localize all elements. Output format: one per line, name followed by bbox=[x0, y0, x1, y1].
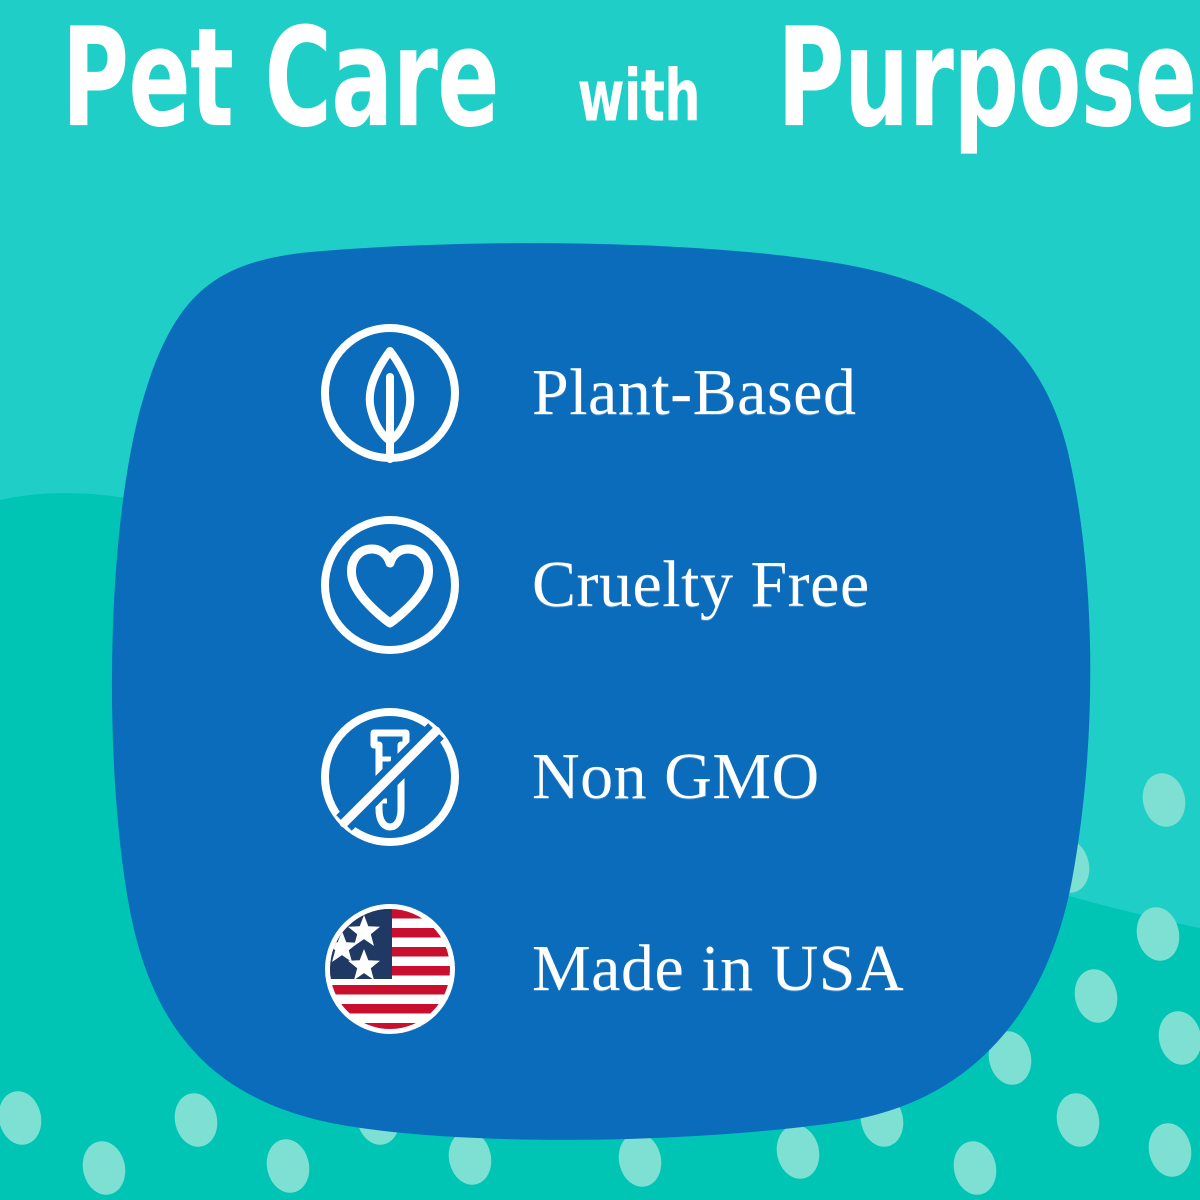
badge-label-non-gmo: Non GMO bbox=[532, 744, 820, 810]
promo-graphic: Pet CarewithPurpose® Plant-Based bbox=[0, 0, 1200, 1200]
headline-part-1: Pet Care bbox=[62, 9, 499, 146]
badge-label-plant-based: Plant-Based bbox=[532, 360, 856, 426]
headline-part-3: Purpose bbox=[777, 9, 1196, 146]
page-title: Pet CarewithPurpose® bbox=[0, 28, 1200, 146]
badge-label-cruelty-free: Cruelty Free bbox=[532, 552, 870, 618]
badge-list: Plant-Based Cruelty Free bbox=[316, 318, 1016, 1044]
badge-row-plant-based: Plant-Based bbox=[316, 318, 1016, 468]
no-test-tube-icon bbox=[316, 703, 464, 851]
badge-label-made-in-usa: Made in USA bbox=[532, 936, 904, 1002]
leaf-circle-icon bbox=[316, 319, 464, 467]
badge-row-non-gmo: Non GMO bbox=[316, 702, 1016, 852]
badge-row-made-in-usa: Made in USA bbox=[316, 894, 1016, 1044]
badge-row-cruelty-free: Cruelty Free bbox=[316, 510, 1016, 660]
headline-part-2: with bbox=[576, 61, 702, 133]
heart-circle-icon bbox=[316, 511, 464, 659]
usa-flag-circle-icon bbox=[316, 895, 464, 1043]
